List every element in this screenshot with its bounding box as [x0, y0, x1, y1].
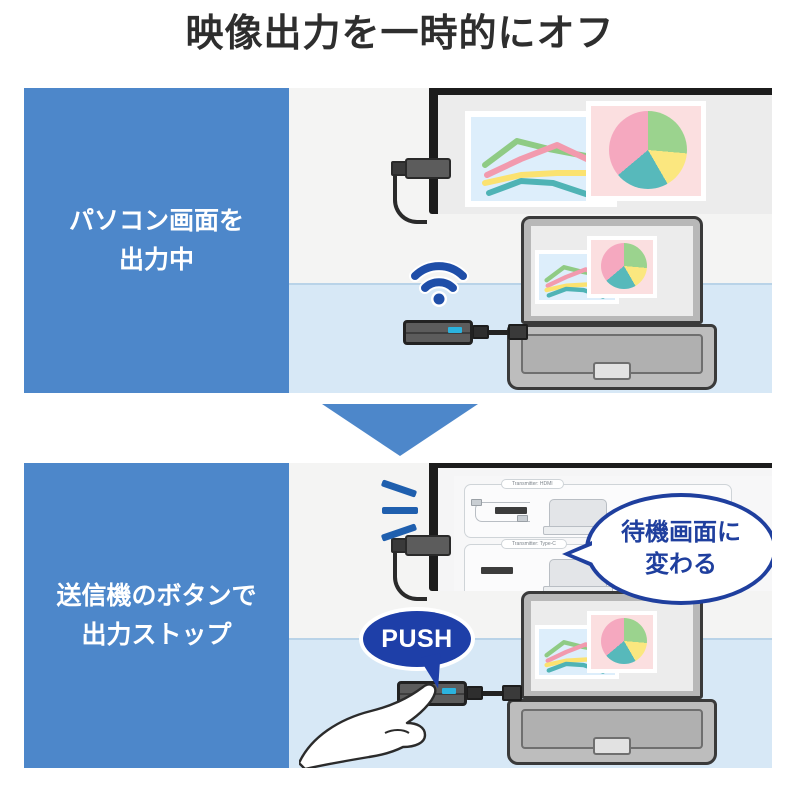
laptop2-pie-chart-bg — [591, 615, 653, 669]
page-title: 映像出力を一時的にオフ — [0, 14, 800, 56]
standby-row-hdmi-tag: Transmitter: HDMI — [501, 479, 564, 489]
blink-lines-icon — [381, 485, 421, 537]
standby-dongle-2 — [481, 567, 513, 574]
pointing-hand-icon — [299, 675, 489, 768]
laptop-1 — [507, 216, 717, 390]
standby-bubble: 待機画面に 変わる — [585, 493, 772, 605]
panel-2-label-line1: 送信機のボタンで — [56, 577, 256, 616]
standby-plug-1b — [517, 515, 528, 522]
transmitter-neck-1 — [472, 325, 489, 339]
blink-line-2 — [382, 507, 418, 514]
laptop-2 — [507, 591, 717, 765]
laptop-lid-1 — [521, 216, 703, 324]
standby-bubble-line2: 変わる — [621, 549, 741, 581]
receiver-cable-1 — [393, 172, 427, 224]
transmitter-cord-1 — [488, 330, 510, 335]
push-bubble-label: PUSH — [381, 625, 452, 654]
transmitter-body-1 — [403, 320, 473, 345]
laptop-base-1 — [507, 324, 717, 390]
tv-pie-chart-frame — [586, 101, 706, 201]
standby-plug-1a — [471, 499, 482, 506]
panel-2-label-line2: 出力ストップ — [56, 616, 256, 655]
panel-1-label-line1: パソコン画面を — [69, 202, 244, 241]
wifi-icon-svg — [407, 254, 471, 308]
tv-pie-chart — [609, 111, 687, 189]
receiver-body-1 — [405, 158, 451, 179]
laptop-screen-1 — [531, 226, 693, 316]
panel-2-label: 送信機のボタンで 出力ストップ — [24, 463, 289, 768]
television-1 — [429, 88, 772, 214]
standby-row-typec-tag: Transmitter: Type-C — [501, 539, 567, 549]
laptop-trackpad-1 — [593, 362, 631, 380]
laptop-trackpad-2 — [593, 737, 631, 755]
receiver-cable-2 — [393, 549, 427, 601]
transmitter-plug-2 — [502, 685, 522, 701]
laptop-screen-2 — [531, 601, 693, 691]
standby-dongle-1 — [495, 507, 527, 514]
transmitter-plug-1 — [508, 324, 528, 340]
panel-1-scene — [289, 88, 772, 393]
laptop2-pie-chart-frame — [587, 611, 657, 673]
infographic-page: 映像出力を一時的にオフ パソコン画面を 出力中 — [0, 0, 800, 800]
panel-2-scene: Transmitter: HDMI ➞ STANDBY — [289, 463, 772, 768]
tv-pie-chart-bg — [591, 106, 701, 196]
laptop2-pie-chart — [601, 618, 647, 664]
panel-1-label-line2: 出力中 — [69, 241, 244, 280]
panel-1-label: パソコン画面を 出力中 — [24, 88, 289, 393]
tv-screen-1 — [438, 95, 772, 214]
down-arrow — [322, 404, 478, 456]
wifi-icon — [407, 254, 471, 313]
push-bubble: PUSH — [363, 611, 471, 667]
transmitter-dongle-1 — [403, 320, 533, 346]
laptop-lid-2 — [521, 591, 703, 699]
laptop-pie-chart — [601, 243, 647, 289]
pointing-hand-svg — [299, 675, 489, 768]
laptop-pie-chart-bg — [591, 240, 653, 294]
panel-output-active: パソコン画面を 出力中 — [24, 88, 772, 393]
panel-output-stopped: 送信機のボタンで 出力ストップ Transmitter: HDMI — [24, 463, 772, 768]
laptop-pie-chart-frame — [587, 236, 657, 298]
receiver-body-2 — [405, 535, 451, 556]
laptop-base-2 — [507, 699, 717, 765]
standby-bubble-tail-inner — [571, 545, 593, 563]
transmitter-led-1 — [448, 327, 462, 333]
standby-bubble-line1: 待機画面に — [621, 517, 741, 549]
blink-line-1 — [381, 479, 417, 497]
